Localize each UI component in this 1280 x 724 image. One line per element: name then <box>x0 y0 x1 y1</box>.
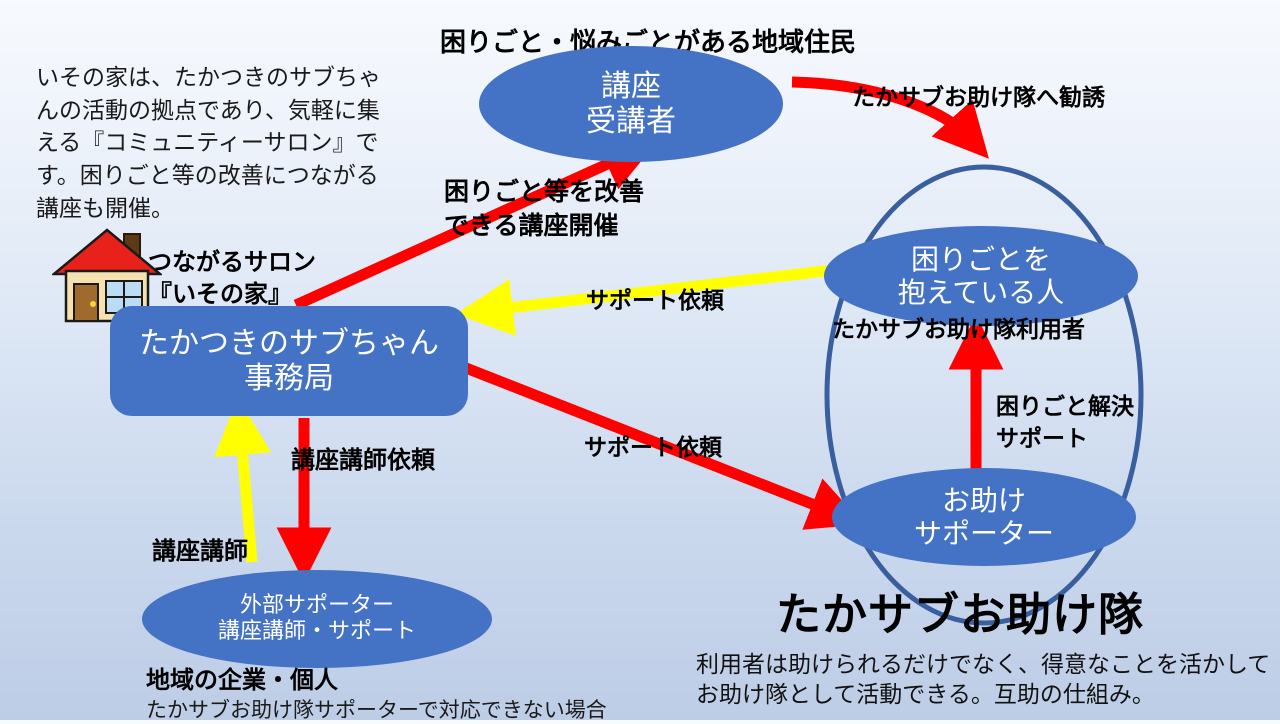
house-label: つながるサロン 『いその家』 <box>148 246 316 311</box>
arrow-label-kaiketsu-line2: サポート <box>996 424 1134 456</box>
node-jimukyoku-line2: 事務局 <box>244 361 334 396</box>
node-jimukyoku[interactable]: たかつきのサブちゃん 事務局 <box>110 306 468 416</box>
node-otasuke-supporter[interactable]: お助け サポーター <box>832 468 1136 566</box>
diagram-canvas: いその家は、たかつきのサブちゃんの活動の拠点であり、気軽に集える『コミュニティー… <box>0 0 1280 720</box>
komari-caption: たかサブお助け隊利用者 <box>832 310 1085 344</box>
group-title: たかサブお助け隊 <box>776 578 1144 643</box>
node-otasuke-line2: サポーター <box>914 517 1054 550</box>
node-jukousha[interactable]: 講座 受講者 <box>479 46 783 162</box>
arrow-label-kouza-kaisai-line2: できる講座開催 <box>444 209 644 243</box>
node-jimukyoku-line1: たかつきのサブちゃん <box>139 326 439 361</box>
arrow-label-kaiketsu-line1: 困りごと解決 <box>996 392 1134 424</box>
arrow-label-kanyuu: たかサブお助け隊へ勧誘 <box>852 78 1105 112</box>
node-jukousha-line2: 受講者 <box>586 104 676 139</box>
arrow-label-support-irai-out: サポート依頼 <box>584 428 722 462</box>
house-label-line1: つながるサロン <box>148 246 316 278</box>
isonoie-description: いその家は、たかつきのサブちゃんの活動の拠点であり、気軽に集える『コミュニティー… <box>36 62 391 225</box>
node-jukousha-line1: 講座 <box>601 69 661 104</box>
group-note: 利用者は助けられるだけでなく、得意なことを活かしてお助け隊として活動できる。互助… <box>696 650 1276 711</box>
node-komari-line1: 困りごとを <box>911 243 1051 276</box>
arrow-label-kouza-kaisai-line1: 困りごと等を改善 <box>444 175 644 209</box>
arrow-label-kouza-kaisai: 困りごと等を改善 できる講座開催 <box>444 175 644 243</box>
gaibu-caption: 地域の企業・個人 <box>146 660 338 695</box>
node-gaibu-line2: 講座講師・サポート <box>218 619 416 645</box>
arrow-label-kouza-koushi: 講座講師 <box>152 531 248 566</box>
node-otasuke-line1: お助け <box>942 484 1026 517</box>
node-gaibu-line1: 外部サポーター <box>240 593 394 619</box>
arrow-label-kaiketsu-support: 困りごと解決 サポート <box>996 392 1134 455</box>
node-komari-line2: 抱えている人 <box>898 276 1065 309</box>
node-gaibu-supporter[interactable]: 外部サポーター 講座講師・サポート <box>142 570 492 668</box>
arrow-label-kouza-koushi-irai: 講座講師依頼 <box>291 440 435 475</box>
arrow-label-support-irai-in: サポート依頼 <box>586 281 724 315</box>
